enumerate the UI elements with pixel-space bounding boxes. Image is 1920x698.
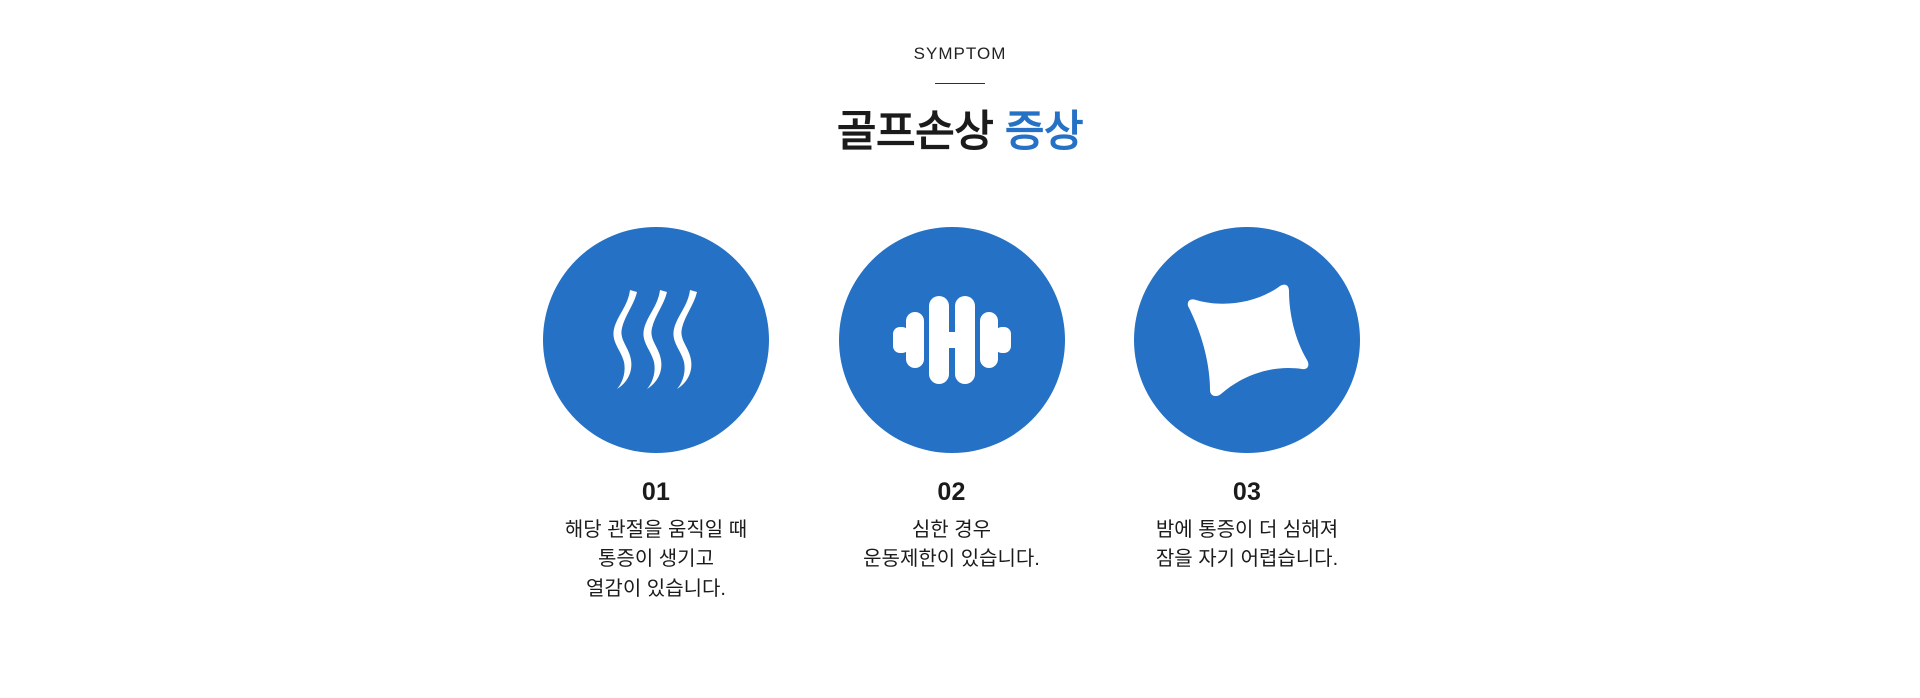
icon-badge-03 [1134, 227, 1360, 453]
page-title-main: 골프손상 [837, 108, 994, 156]
symptom-card-index: 03 [1233, 479, 1261, 507]
symptom-card-text: 해당 관절을 움직일 때 통증이 생기고 열감이 있습니다. [565, 516, 747, 605]
symptom-card-02: 02 심한 경우 운동제한이 있습니다. [839, 227, 1065, 575]
section-eyebrow-label: SYMPTOM [0, 44, 1920, 64]
symptom-card-03: 03 밤에 통증이 더 심해져 잠을 자기 어렵습니다. [1134, 227, 1360, 575]
pillow-icon [1185, 284, 1309, 396]
symptom-section: SYMPTOM 골프손상 증상 01 해당 관절 [0, 0, 1920, 698]
header-divider-rule [935, 83, 985, 84]
icon-badge-01 [543, 227, 769, 453]
symptom-card-01: 01 해당 관절을 움직일 때 통증이 생기고 열감이 있습니다. [543, 227, 769, 604]
dumbbell-icon [893, 294, 1011, 386]
symptom-card-text: 밤에 통증이 더 심해져 잠을 자기 어렵습니다. [1156, 516, 1338, 575]
symptom-card-list: 01 해당 관절을 움직일 때 통증이 생기고 열감이 있습니다. [543, 227, 1360, 604]
heat-waves-icon [608, 288, 704, 392]
page-title: 골프손상 증상 [0, 106, 1920, 160]
section-header: SYMPTOM 골프손상 증상 [0, 44, 1920, 160]
symptom-card-index: 02 [937, 479, 965, 507]
symptom-card-text: 심한 경우 운동제한이 있습니다. [863, 516, 1040, 575]
page-title-accent: 증상 [1005, 108, 1083, 156]
symptom-card-index: 01 [642, 479, 670, 507]
icon-badge-02 [839, 227, 1065, 453]
